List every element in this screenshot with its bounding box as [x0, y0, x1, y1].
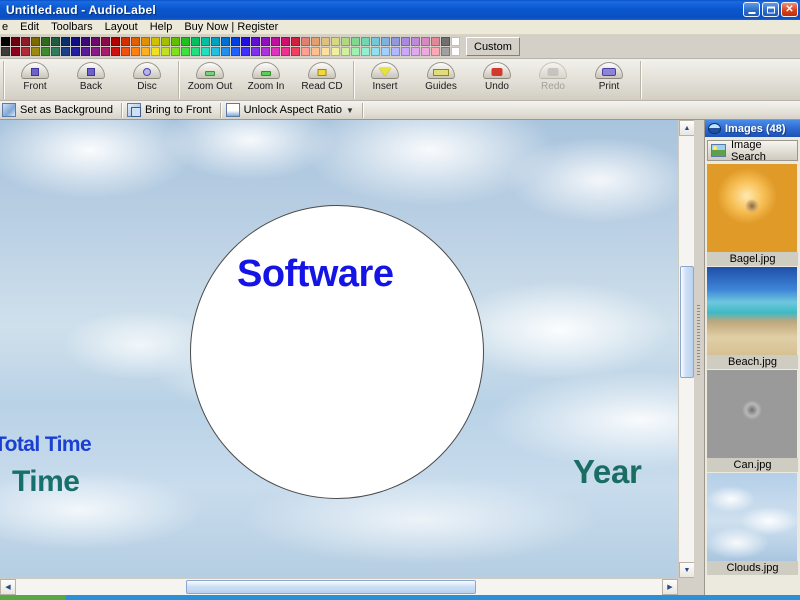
color-swatch[interactable]	[111, 47, 120, 56]
print-icon	[595, 62, 623, 79]
color-swatch[interactable]	[251, 37, 260, 46]
color-swatch[interactable]	[271, 37, 280, 46]
color-swatch[interactable]	[391, 47, 400, 56]
color-swatch[interactable]	[361, 47, 370, 56]
color-swatch[interactable]	[31, 37, 40, 46]
color-swatch[interactable]	[421, 47, 430, 56]
horizontal-scroll-thumb[interactable]	[186, 580, 476, 594]
color-swatch[interactable]	[341, 47, 350, 56]
toolbar-group-edit: Insert Guides Undo Redo Print	[357, 59, 637, 101]
toolbar-separator	[640, 61, 641, 99]
color-swatch[interactable]	[101, 47, 110, 56]
color-swatch[interactable]	[11, 47, 20, 56]
color-swatch[interactable]	[231, 37, 240, 46]
set-as-background-button[interactable]: Set as Background	[0, 102, 118, 119]
image-search-button[interactable]: Image Search	[707, 140, 798, 161]
color-swatch[interactable]	[201, 47, 210, 56]
bring-to-front-icon	[127, 103, 141, 117]
color-swatch[interactable]	[391, 37, 400, 46]
zoom-out-icon	[196, 62, 224, 79]
images-panel: Images (48) Image Search Bagel.jpgBeach.…	[704, 120, 800, 598]
color-swatch[interactable]	[181, 37, 190, 46]
color-swatch[interactable]	[311, 47, 320, 56]
color-swatch[interactable]	[211, 47, 220, 56]
color-swatch[interactable]	[221, 47, 230, 56]
insert-icon	[371, 62, 399, 79]
color-swatch[interactable]	[131, 37, 140, 46]
color-swatch[interactable]	[71, 47, 80, 56]
color-swatch[interactable]	[361, 37, 370, 46]
color-swatch[interactable]	[151, 37, 160, 46]
color-palette-bar: Custom	[0, 35, 800, 59]
color-swatch[interactable]	[281, 47, 290, 56]
toolbar-button-guides-label: Guides	[425, 81, 457, 92]
canvas-vertical-scrollbar[interactable]: ▲ ▼	[678, 120, 694, 578]
color-swatch[interactable]	[301, 47, 310, 56]
toolbar-button-back[interactable]: Back	[63, 59, 119, 99]
color-swatch[interactable]	[1, 37, 10, 46]
menu-item-help[interactable]: Help	[144, 20, 179, 34]
toolbar-button-front-label: Front	[23, 81, 46, 92]
front-icon	[21, 62, 49, 79]
color-palette-grid[interactable]	[1, 37, 460, 56]
custom-color-button[interactable]: Custom	[466, 37, 520, 56]
color-swatch[interactable]	[271, 47, 280, 56]
color-swatch[interactable]	[51, 47, 60, 56]
color-swatch[interactable]	[111, 37, 120, 46]
scroll-right-arrow-icon[interactable]: ▶	[662, 579, 678, 595]
toolbar-button-read-cd-label: Read CD	[301, 81, 342, 92]
color-swatch[interactable]	[171, 47, 180, 56]
thumbnail-caption: Clouds.jpg	[707, 561, 798, 575]
color-swatch[interactable]	[331, 37, 340, 46]
splitter-grip-icon	[697, 305, 700, 375]
toolbar-button-print[interactable]: Print	[581, 59, 637, 99]
maximize-icon	[767, 6, 775, 13]
color-swatch[interactable]	[241, 47, 250, 56]
color-swatch[interactable]	[341, 37, 350, 46]
maximize-button[interactable]	[762, 2, 779, 17]
color-swatch[interactable]	[321, 37, 330, 46]
window-controls: ✕	[743, 2, 798, 17]
unlock-aspect-ratio-button[interactable]: Unlock Aspect Ratio ▼	[224, 102, 359, 119]
toolbar-button-undo-label: Undo	[485, 81, 509, 92]
toolbar-button-back-label: Back	[80, 81, 102, 92]
toolbar-separator	[220, 103, 221, 118]
color-swatch[interactable]	[61, 47, 70, 56]
disc-icon	[133, 62, 161, 79]
color-swatch[interactable]	[191, 47, 200, 56]
color-swatch[interactable]	[371, 37, 380, 46]
aspect-ratio-icon	[226, 103, 240, 117]
images-panel-icon	[708, 123, 721, 134]
bring-to-front-label: Bring to Front	[145, 104, 212, 116]
image-thumbnail-item[interactable]: Can.jpg	[707, 370, 798, 472]
color-swatch[interactable]	[21, 47, 30, 56]
close-button[interactable]: ✕	[781, 2, 798, 17]
color-swatch[interactable]	[351, 47, 360, 56]
object-toolbar: Set as Background Bring to Front Unlock …	[0, 101, 800, 120]
toolbar-button-front[interactable]: Front	[7, 59, 63, 99]
image-thumbnail-item[interactable]: Clouds.jpg	[707, 473, 798, 575]
color-swatch[interactable]	[251, 47, 260, 56]
color-swatch[interactable]	[421, 37, 430, 46]
menu-item-file[interactable]: e	[0, 20, 14, 34]
color-swatch[interactable]	[141, 37, 150, 46]
toolbar-button-zoom-in[interactable]: Zoom In	[238, 59, 294, 99]
thumbnail-preview[interactable]	[707, 473, 797, 561]
color-swatch[interactable]	[401, 37, 410, 46]
canvas-horizontal-scrollbar[interactable]: ◀ ▶	[0, 578, 678, 595]
menu-item-edit[interactable]: Edit	[14, 20, 45, 34]
guides-icon	[427, 62, 455, 79]
image-search-label: Image Search	[731, 139, 797, 163]
color-swatch[interactable]	[51, 37, 60, 46]
set-as-background-label: Set as Background	[20, 104, 113, 116]
read-cd-icon	[308, 62, 336, 79]
color-swatch[interactable]	[191, 37, 200, 46]
color-swatch[interactable]	[231, 47, 240, 56]
color-swatch[interactable]	[371, 47, 380, 56]
color-swatch[interactable]	[241, 37, 250, 46]
color-swatch[interactable]	[91, 47, 100, 56]
color-swatch[interactable]	[411, 47, 420, 56]
color-swatch[interactable]	[41, 47, 50, 56]
color-swatch[interactable]	[441, 47, 450, 56]
color-swatch[interactable]	[61, 37, 70, 46]
color-swatch[interactable]	[211, 37, 220, 46]
close-icon: ✕	[785, 5, 793, 15]
canvas-text-time[interactable]: Time	[12, 465, 79, 499]
color-swatch[interactable]	[291, 47, 300, 56]
color-swatch[interactable]	[431, 37, 440, 46]
toolbar-button-disc[interactable]: Disc	[119, 59, 175, 99]
color-swatch[interactable]	[151, 47, 160, 56]
thumbnail-caption: Can.jpg	[707, 458, 798, 472]
color-swatch[interactable]	[381, 37, 390, 46]
color-swatch[interactable]	[91, 37, 100, 46]
thumbnail-caption: Beach.jpg	[707, 355, 798, 369]
menu-bar: e Edit Toolbars Layout Help Buy Now | Re…	[0, 20, 800, 35]
toolbar-group-views: Front Back Disc	[7, 59, 175, 101]
chevron-down-icon[interactable]: ▼	[346, 106, 354, 115]
images-panel-header: Images (48)	[705, 120, 800, 137]
status-bar	[0, 595, 800, 600]
color-swatch[interactable]	[451, 47, 460, 56]
toolbar-button-undo[interactable]: Undo	[469, 59, 525, 99]
minimize-icon	[748, 12, 755, 14]
color-swatch[interactable]	[11, 37, 20, 46]
toolbar-button-zoom-out-label: Zoom Out	[188, 81, 232, 92]
background-icon	[2, 103, 16, 117]
toolbar-group-zoom: Zoom Out Zoom In Read CD	[182, 59, 350, 101]
color-swatch[interactable]	[301, 37, 310, 46]
color-swatch[interactable]	[321, 47, 330, 56]
main-toolbar: Front Back Disc Zoom Out Zoom In	[0, 59, 800, 101]
toolbar-separator	[362, 103, 363, 118]
color-swatch[interactable]	[71, 37, 80, 46]
color-swatch[interactable]	[81, 37, 90, 46]
window-title: Untitled.aud - AudioLabel	[6, 3, 156, 17]
images-panel-title: Images (48)	[725, 123, 786, 135]
menu-item-layout[interactable]: Layout	[99, 20, 144, 34]
toolbar-button-disc-label: Disc	[137, 81, 156, 92]
color-swatch[interactable]	[261, 37, 270, 46]
menu-item-toolbars[interactable]: Toolbars	[45, 20, 99, 34]
color-swatch[interactable]	[431, 47, 440, 56]
cd-disc-shape[interactable]	[190, 205, 484, 499]
color-swatch[interactable]	[221, 37, 230, 46]
toolbar-separator	[121, 103, 122, 118]
thumbnail-preview[interactable]	[707, 267, 797, 355]
application-window: Untitled.aud - AudioLabel ✕ e Edit Toolb…	[0, 0, 800, 600]
color-swatch[interactable]	[441, 37, 450, 46]
scroll-left-arrow-icon[interactable]: ◀	[0, 579, 16, 595]
thumbnail-caption: Bagel.jpg	[707, 252, 798, 266]
color-swatch[interactable]	[141, 47, 150, 56]
toolbar-separator	[178, 61, 179, 99]
redo-icon	[539, 62, 567, 79]
label-canvas[interactable]: Software Total Time Time Year 1. Track 1…	[0, 120, 678, 578]
toolbar-separator	[3, 61, 4, 99]
color-swatch[interactable]	[381, 47, 390, 56]
toolbar-button-redo: Redo	[525, 59, 581, 99]
color-swatch[interactable]	[31, 47, 40, 56]
image-thumbnail-item[interactable]: Bagel.jpg	[707, 164, 798, 266]
color-swatch[interactable]	[161, 47, 170, 56]
scroll-up-arrow-icon[interactable]: ▲	[679, 120, 695, 136]
toolbar-button-insert-label: Insert	[372, 81, 397, 92]
color-swatch[interactable]	[161, 37, 170, 46]
toolbar-button-redo-label: Redo	[541, 81, 565, 92]
color-swatch[interactable]	[281, 37, 290, 46]
color-swatch[interactable]	[451, 37, 460, 46]
undo-icon	[483, 62, 511, 79]
toolbar-button-zoom-out[interactable]: Zoom Out	[182, 59, 238, 99]
image-thumbnail-list: Bagel.jpgBeach.jpgCan.jpgClouds.jpg	[705, 164, 800, 575]
color-swatch[interactable]	[291, 37, 300, 46]
color-swatch[interactable]	[351, 37, 360, 46]
color-swatch[interactable]	[311, 37, 320, 46]
thumbnail-preview[interactable]	[707, 370, 797, 458]
canvas-text-total-time[interactable]: Total Time	[0, 433, 91, 457]
image-search-icon	[711, 144, 726, 157]
color-swatch[interactable]	[101, 37, 110, 46]
color-swatch[interactable]	[121, 37, 130, 46]
unlock-aspect-ratio-label: Unlock Aspect Ratio	[244, 104, 342, 116]
toolbar-button-guides[interactable]: Guides	[413, 59, 469, 99]
vertical-scroll-thumb[interactable]	[680, 266, 694, 378]
toolbar-separator	[353, 61, 354, 99]
color-swatch[interactable]	[331, 47, 340, 56]
zoom-in-icon	[252, 62, 280, 79]
toolbar-button-zoom-in-label: Zoom In	[248, 81, 285, 92]
panel-splitter[interactable]	[694, 120, 704, 598]
color-swatch[interactable]	[201, 37, 210, 46]
color-swatch[interactable]	[411, 37, 420, 46]
image-thumbnail-item[interactable]: Beach.jpg	[707, 267, 798, 369]
bring-to-front-button[interactable]: Bring to Front	[125, 102, 217, 119]
scroll-down-arrow-icon[interactable]: ▼	[679, 562, 695, 578]
toolbar-button-insert[interactable]: Insert	[357, 59, 413, 99]
color-swatch[interactable]	[81, 47, 90, 56]
thumbnail-preview[interactable]	[707, 164, 797, 252]
color-swatch[interactable]	[171, 37, 180, 46]
color-swatch[interactable]	[401, 47, 410, 56]
color-swatch[interactable]	[261, 47, 270, 56]
color-swatch[interactable]	[1, 47, 10, 56]
status-indicator	[0, 595, 66, 600]
toolbar-button-read-cd[interactable]: Read CD	[294, 59, 350, 99]
title-bar: Untitled.aud - AudioLabel ✕	[0, 0, 800, 20]
toolbar-button-print-label: Print	[599, 81, 620, 92]
canvas-text-software[interactable]: Software	[237, 253, 393, 296]
menu-item-buy-now-register[interactable]: Buy Now | Register	[178, 20, 284, 34]
color-swatch[interactable]	[131, 47, 140, 56]
color-swatch[interactable]	[181, 47, 190, 56]
color-swatch[interactable]	[21, 37, 30, 46]
color-swatch[interactable]	[41, 37, 50, 46]
canvas-text-year[interactable]: Year	[573, 453, 642, 491]
color-swatch[interactable]	[121, 47, 130, 56]
minimize-button[interactable]	[743, 2, 760, 17]
back-icon	[77, 62, 105, 79]
